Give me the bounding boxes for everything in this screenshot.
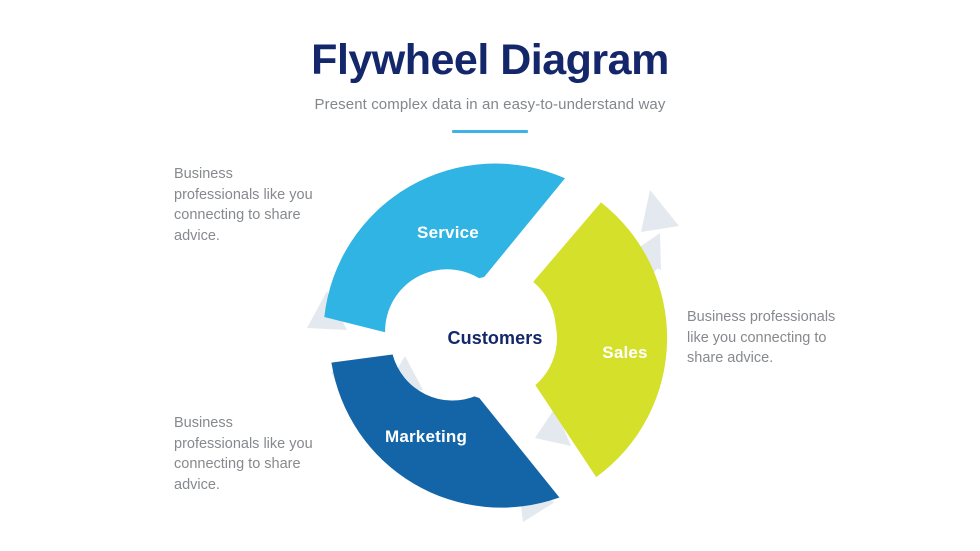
segment-service-label: Service (417, 223, 479, 242)
caption-sales: Business professionals like you connecti… (687, 307, 847, 369)
page-subtitle: Present complex data in an easy-to-under… (0, 83, 980, 113)
page-title: Flywheel Diagram (0, 0, 980, 83)
caption-marketing: Business professionals like you connecti… (174, 413, 322, 495)
flywheel-hub[interactable]: Customers (433, 276, 557, 400)
accent-divider (452, 130, 528, 133)
page-header: Flywheel Diagram Present complex data in… (0, 0, 980, 133)
hub-label: Customers (448, 328, 543, 348)
arrow-service-leading-icon (641, 190, 679, 232)
segment-marketing-label: Marketing (385, 427, 467, 446)
flywheel-diagram: Service Sales Marketing Customers (323, 160, 668, 520)
caption-service: Business professionals like you connecti… (174, 164, 319, 246)
segment-sales-label: Sales (602, 343, 647, 362)
